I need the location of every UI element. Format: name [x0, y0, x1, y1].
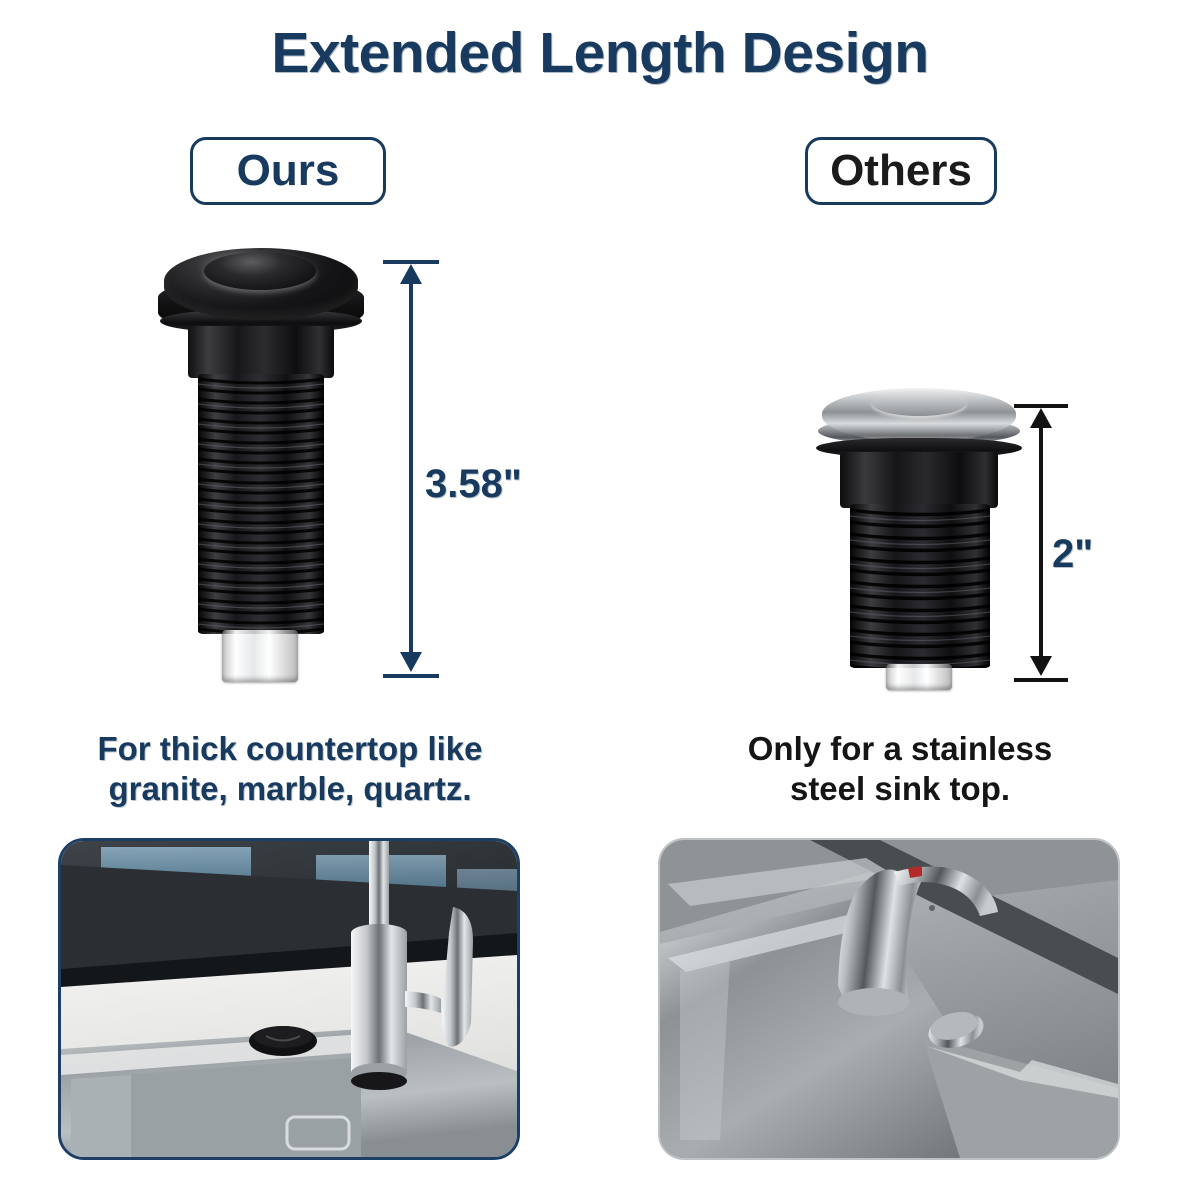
dimension-arrowhead-down-ours — [400, 652, 422, 672]
caption-others: Only for a stainless steel sink top. — [690, 729, 1110, 810]
dimension-arrowhead-down-others — [1030, 656, 1052, 676]
caption-others-line1: Only for a stainless — [690, 729, 1110, 769]
barrel-threads-icon-ours — [198, 374, 324, 634]
dimension-tick-bottom-others — [1014, 678, 1068, 682]
threaded-barrel-others — [850, 504, 990, 668]
product-image-others — [816, 388, 1022, 700]
column-badge-others: Others — [805, 137, 997, 205]
page-title: Extended Length Design — [0, 24, 1200, 84]
button-hex-collar-others — [840, 452, 998, 508]
caption-ours: For thick countertop like granite, marbl… — [40, 729, 540, 810]
button-hex-collar-ours — [188, 326, 334, 378]
caption-ours-line2: granite, marble, quartz. — [40, 769, 540, 809]
button-cap-center-disc-ours — [204, 252, 316, 290]
chrome-cap-center-disc-others — [872, 390, 966, 416]
caption-ours-line1: For thick countertop like — [40, 729, 540, 769]
dimension-shaft-others — [1039, 416, 1043, 668]
photo-others-installation — [658, 838, 1120, 1160]
clear-lock-nut-ours — [222, 630, 298, 682]
product-image-ours — [148, 248, 374, 690]
dimension-label-ours: 3.58" — [425, 462, 522, 507]
threaded-barrel-ours — [198, 374, 324, 634]
dimension-shaft-ours — [409, 272, 413, 664]
dimension-label-others: 2" — [1052, 532, 1093, 577]
clear-lock-nut-others — [886, 664, 952, 690]
caption-others-line2: steel sink top. — [690, 769, 1110, 809]
dimension-tick-bottom-ours — [383, 674, 439, 678]
photo-ours-scene — [61, 841, 517, 1157]
column-badge-ours: Ours — [190, 137, 386, 205]
photo-ours-installation — [58, 838, 520, 1160]
barrel-threads-icon-others — [850, 504, 990, 668]
photo-others-scene — [660, 840, 1118, 1158]
